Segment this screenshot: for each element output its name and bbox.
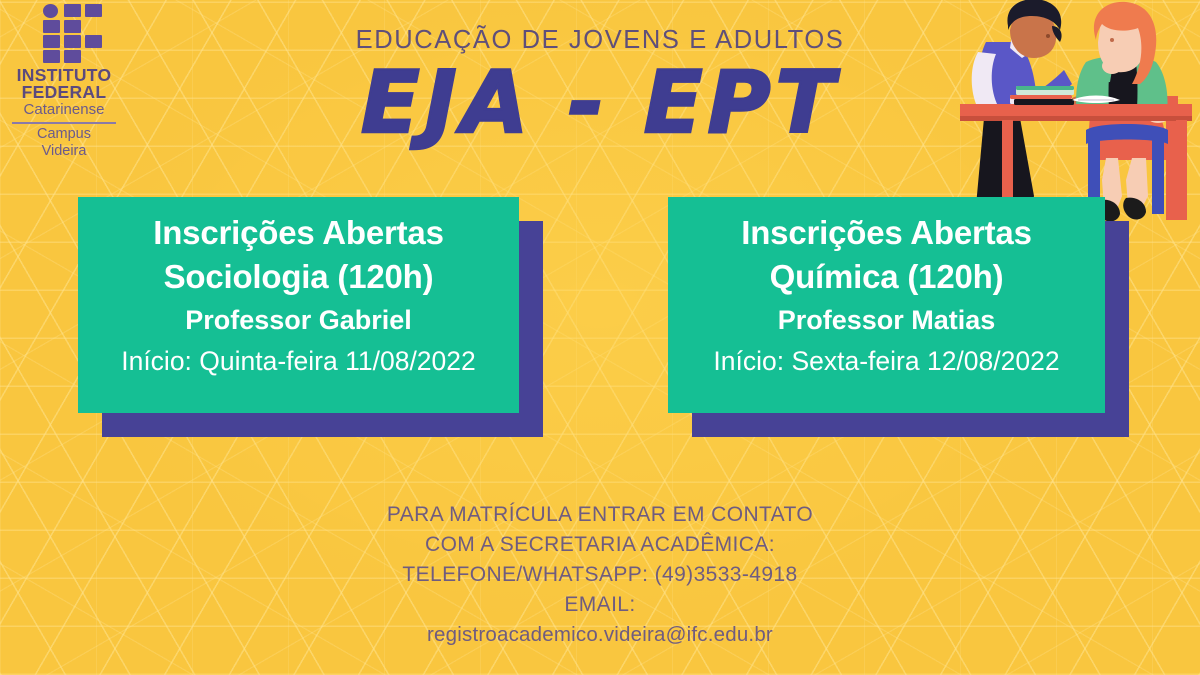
logo-state-name: Catarinense — [8, 101, 120, 119]
card-start-quimica: Início: Sexta-feira 12/08/2022 — [680, 341, 1093, 381]
logo-campus-line-2: Videira — [8, 143, 120, 160]
poster-canvas: INSTITUTO FEDERAL Catarinense Campus Vid… — [0, 0, 1200, 675]
logo-divider — [12, 122, 116, 124]
contact-email-label: EMAIL: — [0, 590, 1200, 620]
card-subject-sociologia: Sociologia (120h) — [90, 255, 507, 299]
contact-line-1: PARA MATRÍCULA ENTRAR EM CONTATO — [0, 500, 1200, 530]
card-status-sociologia: Inscrições Abertas — [90, 211, 507, 255]
card-status-quimica: Inscrições Abertas — [680, 211, 1093, 255]
contact-block: PARA MATRÍCULA ENTRAR EM CONTATO COM A S… — [0, 500, 1200, 650]
page-title: EJA - EPT — [0, 57, 1200, 149]
course-card-quimica: Inscrições Abertas Química (120h) Profes… — [668, 197, 1105, 413]
card-body-quimica: Inscrições Abertas Química (120h) Profes… — [668, 197, 1105, 413]
instituto-federal-grid-mark-icon — [23, 4, 105, 64]
logo-name-line-2: FEDERAL — [8, 84, 120, 101]
poster-header: EDUCAÇÃO DE JOVENS E ADULTOS EJA - EPT — [0, 26, 1200, 149]
logo-campus-line-1: Campus — [8, 126, 120, 143]
course-card-sociologia: Inscrições Abertas Sociologia (120h) Pro… — [78, 197, 519, 413]
contact-phone: TELEFONE/WHATSAPP: (49)3533-4918 — [0, 560, 1200, 590]
card-teacher-sociologia: Professor Gabriel — [90, 299, 507, 341]
header-kicker: EDUCAÇÃO DE JOVENS E ADULTOS — [0, 26, 1200, 55]
card-subject-quimica: Química (120h) — [680, 255, 1093, 299]
card-start-sociologia: Início: Quinta-feira 11/08/2022 — [90, 341, 507, 381]
institutional-logo: INSTITUTO FEDERAL Catarinense Campus Vid… — [8, 4, 120, 160]
card-body-sociologia: Inscrições Abertas Sociologia (120h) Pro… — [78, 197, 519, 413]
contact-email-value[interactable]: registroacademico.videira@ifc.edu.br — [0, 620, 1200, 650]
contact-line-2: COM A SECRETARIA ACADÊMICA: — [0, 530, 1200, 560]
card-teacher-quimica: Professor Matias — [680, 299, 1093, 341]
